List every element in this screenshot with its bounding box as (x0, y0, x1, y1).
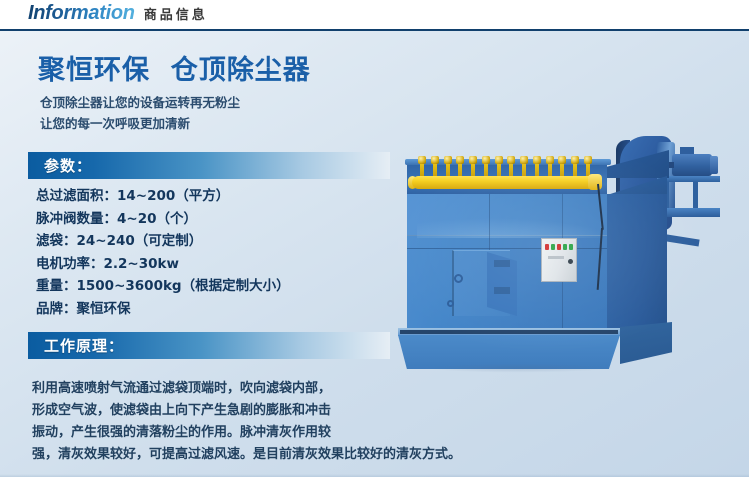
parameter-row: 滤袋：24~240（可定制） (36, 230, 290, 253)
information-heading-cn: 商品信息 (144, 4, 208, 23)
page-title: 聚恒环保 仓顶除尘器 (38, 48, 311, 87)
principle-paragraph: 利用高速喷射气流通过滤袋顶端时，吹向滤袋内部， 形成空气波，使滤袋由上向下产生急… (32, 378, 502, 466)
parameter-row: 品牌：聚恒环保 (36, 298, 290, 321)
parameters-heading: 参数： (44, 155, 92, 176)
parameter-row: 电机功率：2.2~30kw (36, 253, 290, 276)
information-heading: Information (28, 2, 135, 25)
header-divider (0, 29, 749, 31)
principle-line: 形成空气波，使滤袋由上向下产生急剧的膨胀和冲击 (32, 400, 502, 422)
principle-line: 振动，产生很强的清落粉尘的作用。脉冲清灰作用较 (32, 422, 502, 444)
parameter-row: 脉冲阀数量：4~20（个） (36, 208, 290, 231)
subtitle-line-1: 仓顶除尘器让您的设备运转再无粉尘 (40, 92, 240, 113)
product-subtitle: 仓顶除尘器让您的设备运转再无粉尘 让您的每一次呼吸更加清新 (40, 92, 240, 134)
parameter-row: 总过滤面积：14~200（平方） (36, 185, 290, 208)
principle-heading: 工作原理： (44, 335, 124, 356)
parameter-row: 重量：1500~3600kg（根据定制大小） (36, 275, 290, 298)
principle-section-bar: 工作原理： (28, 332, 390, 359)
subtitle-line-2: 让您的每一次呼吸更加清新 (40, 113, 240, 134)
page-header: Information 商品信息 (0, 0, 749, 30)
parameters-list: 总过滤面积：14~200（平方） 脉冲阀数量：4~20（个） 滤袋：24~240… (36, 185, 290, 320)
product-photo (372, 132, 749, 387)
product-info-page: Information 商品信息 聚恒环保 仓顶除尘器 仓顶除尘器让您的设备运转… (0, 0, 749, 477)
photo-highlight (372, 132, 749, 387)
header-brand-group: Information 商品信息 (28, 2, 208, 25)
photo-ground-shadow (394, 362, 644, 374)
principle-line: 强，清灰效果较好，可提高过滤风速。是目前清灰效果比较好的清灰方式。 (32, 444, 502, 466)
parameters-section-bar: 参数： (28, 152, 390, 179)
